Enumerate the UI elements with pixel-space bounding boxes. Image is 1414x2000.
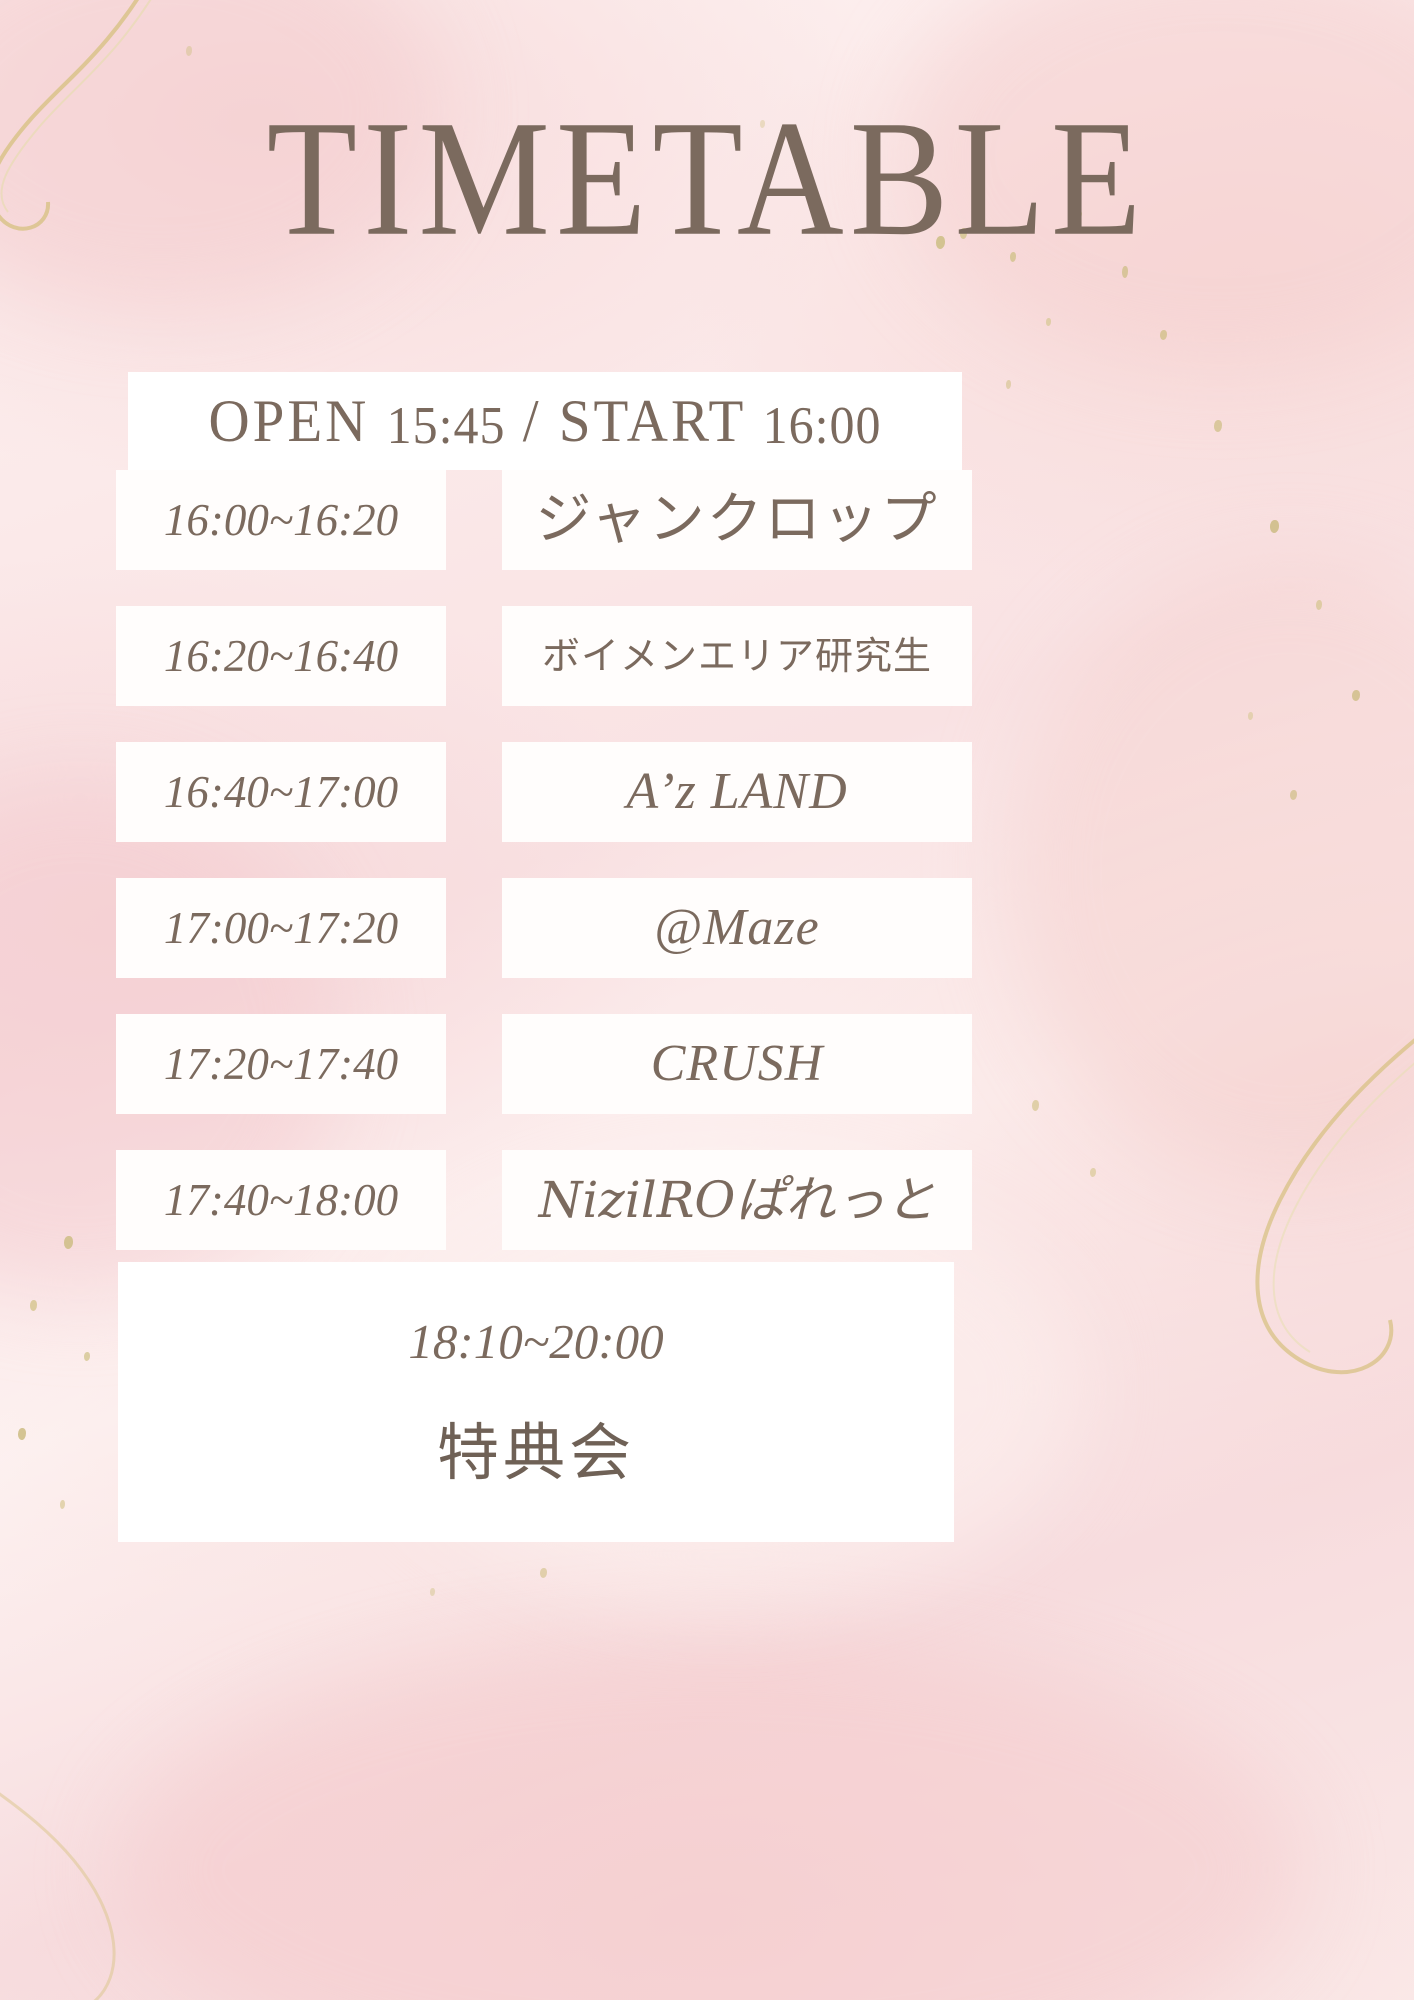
bonus-event-label: 特典会 — [437, 1402, 635, 1492]
table-row: 16:20~16:40ボイメンエリア研究生 — [0, 606, 1414, 706]
gold-fleck — [540, 1568, 547, 1578]
page-title: TIMETABLE — [0, 96, 1414, 262]
gold-fleck — [60, 1500, 65, 1509]
gold-fleck — [430, 1588, 435, 1596]
bonus-event-block: 18:10~20:00 特典会 — [118, 1262, 954, 1542]
schedule-time-text: 16:40~17:00 — [164, 766, 398, 818]
schedule-time-text: 16:20~16:40 — [164, 630, 398, 682]
schedule-act-cell: ジャンクロップ — [502, 470, 972, 570]
timetable-poster: TIMETABLE OPEN 15:45 / START 16:00 16:00… — [0, 0, 1414, 2000]
schedule-time-cell: 16:20~16:40 — [116, 606, 446, 706]
watercolor-bloom-bottom — [120, 1640, 1300, 2000]
open-start-separator: / — [523, 388, 542, 454]
gold-fleck — [1046, 318, 1051, 326]
schedule-act-name: ジャンクロップ — [535, 492, 938, 548]
schedule-time-text: 17:00~17:20 — [164, 902, 398, 954]
start-label: START — [559, 388, 746, 454]
schedule-act-name: ボイメンエリア研究生 — [542, 637, 932, 675]
schedule-act-name: A’z LAND — [626, 766, 847, 818]
table-row: 17:40~18:00NizilROぱれっと — [0, 1150, 1414, 1250]
schedule-act-cell: NizilROぱれっと — [502, 1150, 972, 1250]
schedule-act-name: CRUSH — [651, 1038, 824, 1090]
gold-fleck — [1006, 380, 1011, 389]
schedule-time-cell: 17:40~18:00 — [116, 1150, 446, 1250]
open-start-bar: OPEN 15:45 / START 16:00 — [128, 372, 962, 470]
gold-swirl-bottom-left — [0, 1720, 220, 2000]
schedule-time-cell: 17:00~17:20 — [116, 878, 446, 978]
table-row: 17:00~17:20@Maze — [0, 878, 1414, 978]
gold-fleck — [18, 1428, 26, 1440]
bonus-event-time: 18:10~20:00 — [408, 1313, 663, 1370]
schedule-act-cell: @Maze — [502, 878, 972, 978]
start-time: 16:00 — [763, 395, 882, 454]
schedule-time-cell: 16:00~16:20 — [116, 470, 446, 570]
schedule-act-cell: ボイメンエリア研究生 — [502, 606, 972, 706]
table-row: 16:40~17:00A’z LAND — [0, 742, 1414, 842]
schedule-time-text: 17:20~17:40 — [164, 1038, 398, 1090]
schedule-time-cell: 16:40~17:00 — [116, 742, 446, 842]
schedule-act-name: NizilROぱれっと — [539, 1175, 936, 1225]
open-start-text: OPEN 15:45 / START 16:00 — [208, 387, 881, 455]
schedule-act-cell: A’z LAND — [502, 742, 972, 842]
open-label: OPEN — [208, 388, 369, 454]
schedule-time-text: 17:40~18:00 — [164, 1174, 398, 1226]
schedule-rows: 16:00~16:20ジャンクロップ16:20~16:40ボイメンエリア研究生1… — [0, 470, 1414, 1286]
gold-fleck — [84, 1352, 90, 1361]
schedule-time-text: 16:00~16:20 — [164, 494, 398, 546]
table-row: 16:00~16:20ジャンクロップ — [0, 470, 1414, 570]
gold-fleck — [1214, 420, 1222, 432]
gold-fleck — [186, 46, 192, 56]
table-row: 17:20~17:40CRUSH — [0, 1014, 1414, 1114]
gold-fleck — [1160, 330, 1167, 340]
schedule-act-name: @Maze — [654, 902, 819, 954]
schedule-time-cell: 17:20~17:40 — [116, 1014, 446, 1114]
gold-fleck — [30, 1300, 37, 1311]
schedule-act-cell: CRUSH — [502, 1014, 972, 1114]
open-time: 15:45 — [387, 395, 506, 454]
